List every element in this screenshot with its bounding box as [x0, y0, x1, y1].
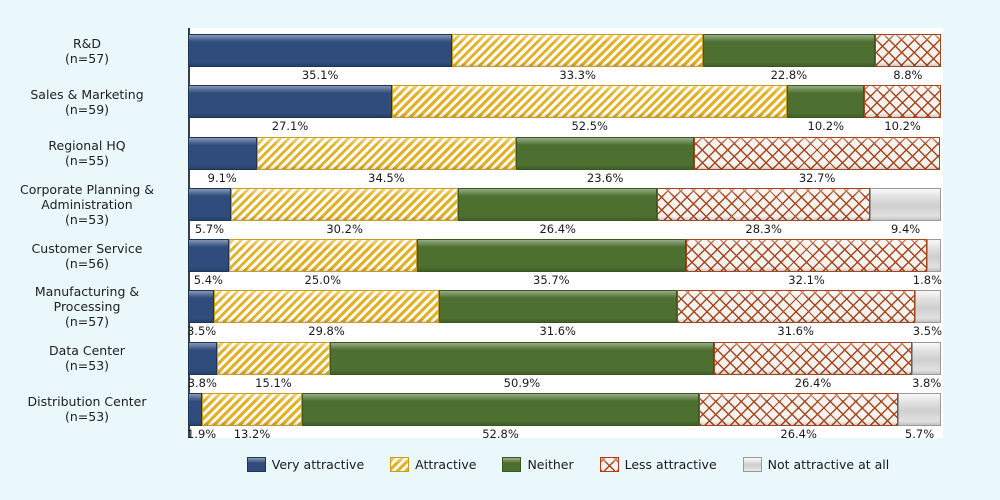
swatch-highlight [248, 458, 265, 463]
swatch-highlight [391, 458, 408, 463]
bar-row: 3.8%15.1%50.9%26.4%3.8% [188, 336, 941, 387]
bar-segment[interactable] [516, 137, 694, 170]
stacked-bar [188, 290, 941, 323]
segment-highlight [695, 138, 939, 145]
bar-segment[interactable] [330, 342, 713, 375]
segment-shadow [678, 318, 914, 322]
segment-shadow [189, 370, 216, 374]
bar-row: 5.4%25.0%35.7%32.1%1.8% [188, 233, 941, 284]
stacked-bar [188, 85, 941, 118]
segment-highlight [232, 189, 457, 196]
category-label-line: Data Center [0, 343, 174, 358]
category-label: R&D(n=57) [0, 36, 174, 66]
bar-segment[interactable] [302, 393, 700, 426]
bar-row: 9.1%34.5%23.6%32.7% [188, 131, 941, 182]
data-label-row: 1.9%13.2%52.8%26.4%5.7% [188, 427, 941, 444]
segment-highlight [215, 291, 437, 298]
segment-highlight [189, 343, 216, 350]
swatch-highlight [744, 458, 761, 463]
bar-segment[interactable] [188, 85, 392, 118]
category-label-line: (n=57) [0, 51, 174, 66]
bar-segment[interactable] [714, 342, 913, 375]
category-label-line: Distribution Center [0, 394, 174, 409]
bar-segment[interactable] [188, 342, 217, 375]
segment-highlight [418, 240, 685, 247]
segment-shadow [189, 216, 230, 220]
bar-segment[interactable] [439, 290, 677, 323]
segment-shadow [695, 165, 939, 169]
segment-highlight [788, 86, 863, 93]
bar-row: 35.1%33.3%22.8%8.8% [188, 28, 941, 79]
stacked-bar [188, 137, 940, 170]
segment-shadow [418, 267, 685, 271]
segment-shadow [899, 421, 940, 425]
bar-segment[interactable] [452, 34, 703, 67]
category-label-line: (n=55) [0, 153, 174, 168]
legend-item[interactable]: Neither [502, 457, 573, 472]
segment-highlight [218, 343, 330, 350]
segment-highlight [916, 291, 940, 298]
segment-shadow [715, 370, 912, 374]
segment-highlight [865, 86, 940, 93]
segment-shadow [704, 62, 874, 66]
segment-shadow [459, 216, 656, 220]
bar-segment[interactable] [188, 393, 202, 426]
legend-swatch-less-attractive [600, 457, 619, 472]
bar-row: 27.1%52.5%10.2%10.2% [188, 79, 941, 130]
segment-highlight [704, 35, 874, 42]
swatch-highlight [503, 458, 520, 463]
bar-segment[interactable] [864, 85, 941, 118]
segment-highlight [189, 394, 201, 401]
segment-shadow [258, 165, 516, 169]
category-label: Corporate Planning &Administration(n=53) [0, 182, 174, 227]
segment-shadow [871, 216, 940, 220]
segment-highlight [658, 189, 869, 196]
segment-highlight [687, 240, 927, 247]
bar-segment[interactable] [875, 34, 941, 67]
category-label-line: Processing [0, 299, 174, 314]
segment-shadow [453, 62, 702, 66]
segment-shadow [303, 421, 699, 425]
segment-shadow [876, 62, 940, 66]
legend-label: Less attractive [625, 457, 717, 472]
category-label: Regional HQ(n=55) [0, 138, 174, 168]
segment-shadow [215, 318, 437, 322]
bar-segment[interactable] [927, 239, 941, 272]
bar-segment[interactable] [202, 393, 301, 426]
segment-highlight [913, 343, 940, 350]
segment-shadow [928, 267, 940, 271]
segment-shadow [232, 216, 457, 220]
segment-shadow [189, 62, 451, 66]
segment-highlight [715, 343, 912, 350]
bar-segment[interactable] [703, 34, 875, 67]
segment-highlight [189, 291, 213, 298]
legend-item[interactable]: Less attractive [600, 457, 717, 472]
bar-segment[interactable] [699, 393, 898, 426]
category-label: Customer Service(n=56) [0, 241, 174, 271]
segment-highlight [189, 86, 391, 93]
category-label-line: (n=53) [0, 212, 174, 227]
legend-item[interactable]: Attractive [390, 457, 476, 472]
segment-highlight [189, 138, 256, 145]
bar-segment[interactable] [915, 290, 941, 323]
segment-shadow [916, 318, 940, 322]
segment-highlight [440, 291, 676, 298]
bar-segment[interactable] [787, 85, 864, 118]
segment-shadow [658, 216, 869, 220]
stacked-bar [188, 188, 941, 221]
stacked-bar [188, 393, 941, 426]
category-label-line: R&D [0, 36, 174, 51]
category-label-line: (n=56) [0, 256, 174, 271]
category-label-line: Manufacturing & [0, 284, 174, 299]
legend-swatch-attractive [390, 457, 409, 472]
bar-rows: 35.1%33.3%22.8%8.8%27.1%52.5%10.2%10.2%9… [188, 28, 941, 438]
bar-segment[interactable] [257, 137, 517, 170]
bar-segment[interactable] [694, 137, 940, 170]
bar-segment[interactable] [217, 342, 331, 375]
segment-shadow [865, 113, 940, 117]
segment-highlight [700, 394, 897, 401]
category-label-line: Regional HQ [0, 138, 174, 153]
legend-swatch-not-attractive-at-all [743, 457, 762, 472]
bar-segment[interactable] [188, 188, 231, 221]
bar-segment[interactable] [417, 239, 686, 272]
segment-shadow [189, 318, 213, 322]
bar-segment[interactable] [231, 188, 458, 221]
segment-shadow [331, 370, 712, 374]
segment-highlight [517, 138, 693, 145]
category-label: Distribution Center(n=53) [0, 394, 174, 424]
category-label-line: (n=59) [0, 102, 174, 117]
segment-highlight [189, 240, 228, 247]
segment-highlight [678, 291, 914, 298]
category-label-line: (n=57) [0, 314, 174, 329]
segment-shadow [517, 165, 693, 169]
segment-highlight [203, 394, 300, 401]
segment-highlight [928, 240, 940, 247]
bar-segment[interactable] [229, 239, 417, 272]
bar-row: 1.9%13.2%52.8%26.4%5.7% [188, 387, 941, 438]
segment-shadow [393, 113, 786, 117]
segment-highlight [459, 189, 656, 196]
bar-segment[interactable] [677, 290, 915, 323]
stacked-bar [188, 239, 941, 272]
category-axis-labels: R&D(n=57)Sales & Marketing(n=59)Regional… [0, 28, 182, 438]
segment-highlight [230, 240, 416, 247]
segment-shadow [218, 370, 330, 374]
segment-shadow [189, 113, 391, 117]
data-label: 26.4% [780, 427, 817, 441]
stacked-bar [188, 342, 941, 375]
category-label-line: Corporate Planning & [0, 182, 174, 197]
segment-highlight [189, 35, 451, 42]
category-label-line: Administration [0, 197, 174, 212]
legend-label: Very attractive [272, 457, 364, 472]
segment-shadow [913, 370, 940, 374]
stacked-bar [188, 34, 941, 67]
bar-segment[interactable] [188, 290, 214, 323]
chart-legend: Very attractiveAttractiveNeitherLess att… [188, 447, 948, 481]
bar-segment[interactable] [188, 34, 452, 67]
category-label: Data Center(n=53) [0, 343, 174, 373]
data-label: 1.9% [187, 427, 216, 441]
segment-highlight [899, 394, 940, 401]
bar-segment[interactable] [870, 188, 941, 221]
segment-highlight [303, 394, 699, 401]
segment-highlight [876, 35, 940, 42]
segment-shadow [230, 267, 416, 271]
segment-shadow [189, 421, 201, 425]
bar-row: 5.7%30.2%26.4%28.3%9.4% [188, 182, 941, 233]
bar-segment[interactable] [912, 342, 941, 375]
swatch-highlight [601, 458, 618, 463]
segment-highlight [393, 86, 786, 93]
segment-shadow [203, 421, 300, 425]
bar-segment[interactable] [188, 239, 229, 272]
bar-segment[interactable] [686, 239, 928, 272]
bar-segment[interactable] [898, 393, 941, 426]
data-label: 13.2% [234, 427, 271, 441]
legend-label: Attractive [415, 457, 476, 472]
category-label-line: (n=53) [0, 358, 174, 373]
stacked-bar-chart: R&D(n=57)Sales & Marketing(n=59)Regional… [0, 0, 1000, 500]
segment-shadow [440, 318, 676, 322]
legend-swatch-very-attractive [247, 457, 266, 472]
legend-label: Neither [527, 457, 573, 472]
legend-item[interactable]: Not attractive at all [743, 457, 890, 472]
segment-shadow [189, 267, 228, 271]
category-label-line: (n=53) [0, 409, 174, 424]
bar-segment[interactable] [392, 85, 787, 118]
segment-highlight [258, 138, 516, 145]
bar-segment[interactable] [657, 188, 870, 221]
data-label: 52.8% [482, 427, 519, 441]
segment-highlight [871, 189, 940, 196]
bar-segment[interactable] [458, 188, 657, 221]
legend-swatch-neither [502, 457, 521, 472]
bar-segment[interactable] [214, 290, 438, 323]
bar-row: 3.5%29.8%31.6%31.6%3.5% [188, 284, 941, 335]
segment-shadow [687, 267, 927, 271]
category-label: Manufacturing &Processing(n=57) [0, 284, 174, 329]
legend-item[interactable]: Very attractive [247, 457, 364, 472]
segment-shadow [189, 165, 256, 169]
category-label: Sales & Marketing(n=59) [0, 87, 174, 117]
segment-highlight [453, 35, 702, 42]
category-label-line: Customer Service [0, 241, 174, 256]
segment-shadow [788, 113, 863, 117]
segment-shadow [700, 421, 897, 425]
segment-highlight [189, 189, 230, 196]
legend-label: Not attractive at all [768, 457, 890, 472]
segment-highlight [331, 343, 712, 350]
bar-segment[interactable] [188, 137, 257, 170]
data-label: 5.7% [905, 427, 934, 441]
category-label-line: Sales & Marketing [0, 87, 174, 102]
